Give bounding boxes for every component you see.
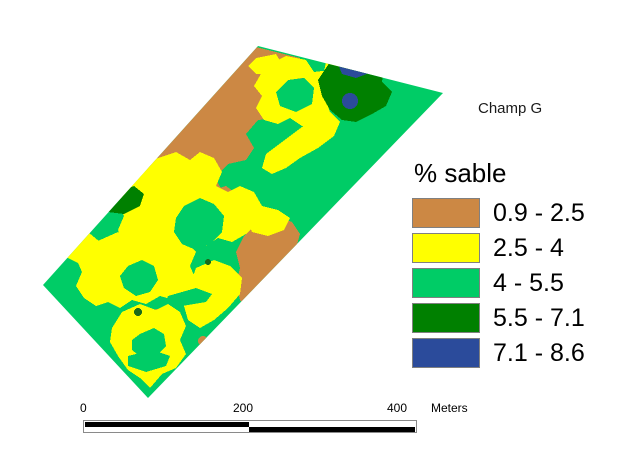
legend-swatch-2.5-4 bbox=[412, 233, 480, 263]
legend-swatch-7.1-8.6 bbox=[412, 338, 480, 368]
legend-label-7.1-8.6: 7.1 - 8.6 bbox=[493, 339, 585, 367]
legend-item-4[interactable]: 7.1 - 8.6 bbox=[412, 337, 632, 369]
map-class-2.5-4-east-edge bbox=[280, 266, 316, 300]
legend-label-2.5-4: 2.5 - 4 bbox=[493, 234, 564, 262]
scale-segment-top-left bbox=[85, 422, 249, 427]
map-darkgreen-spot-2 bbox=[134, 308, 142, 316]
legend-title: % sable bbox=[414, 158, 632, 188]
legend: % sable 0.9 - 2.5 2.5 - 4 4 - 5.5 5.5 - … bbox=[412, 158, 632, 372]
legend-swatch-5.5-7.1 bbox=[412, 303, 480, 333]
scale-units-label: Meters bbox=[431, 401, 468, 415]
map-darkgreen-spot-1 bbox=[205, 259, 211, 265]
legend-item-3[interactable]: 5.5 - 7.1 bbox=[412, 302, 632, 334]
scale-bar-graphic bbox=[83, 420, 417, 433]
scale-tick-0: 0 bbox=[80, 401, 87, 415]
scale-segment-bottom-right bbox=[249, 427, 415, 432]
legend-swatch-4-5.5 bbox=[412, 268, 480, 298]
map-class-7.1-8.6-spot bbox=[342, 93, 358, 109]
legend-label-4-5.5: 4 - 5.5 bbox=[493, 269, 564, 297]
legend-label-0.9-2.5: 0.9 - 2.5 bbox=[493, 199, 585, 227]
map-brown-spot-4 bbox=[198, 336, 208, 346]
scale-tick-400: 400 bbox=[387, 401, 407, 415]
map-brown-spot-6 bbox=[270, 310, 278, 318]
scale-tick-200: 200 bbox=[233, 401, 253, 415]
legend-item-0[interactable]: 0.9 - 2.5 bbox=[412, 197, 632, 229]
legend-item-2[interactable]: 4 - 5.5 bbox=[412, 267, 632, 299]
map-title: Champ G bbox=[478, 100, 542, 118]
scale-bar-labels: 0 200 400 Meters bbox=[83, 401, 417, 417]
map-polygon-group bbox=[30, 35, 455, 410]
legend-label-5.5-7.1: 5.5 - 7.1 bbox=[493, 304, 585, 332]
legend-item-1[interactable]: 2.5 - 4 bbox=[412, 232, 632, 264]
legend-swatch-0.9-2.5 bbox=[412, 198, 480, 228]
scale-bar: 0 200 400 Meters bbox=[83, 401, 417, 433]
